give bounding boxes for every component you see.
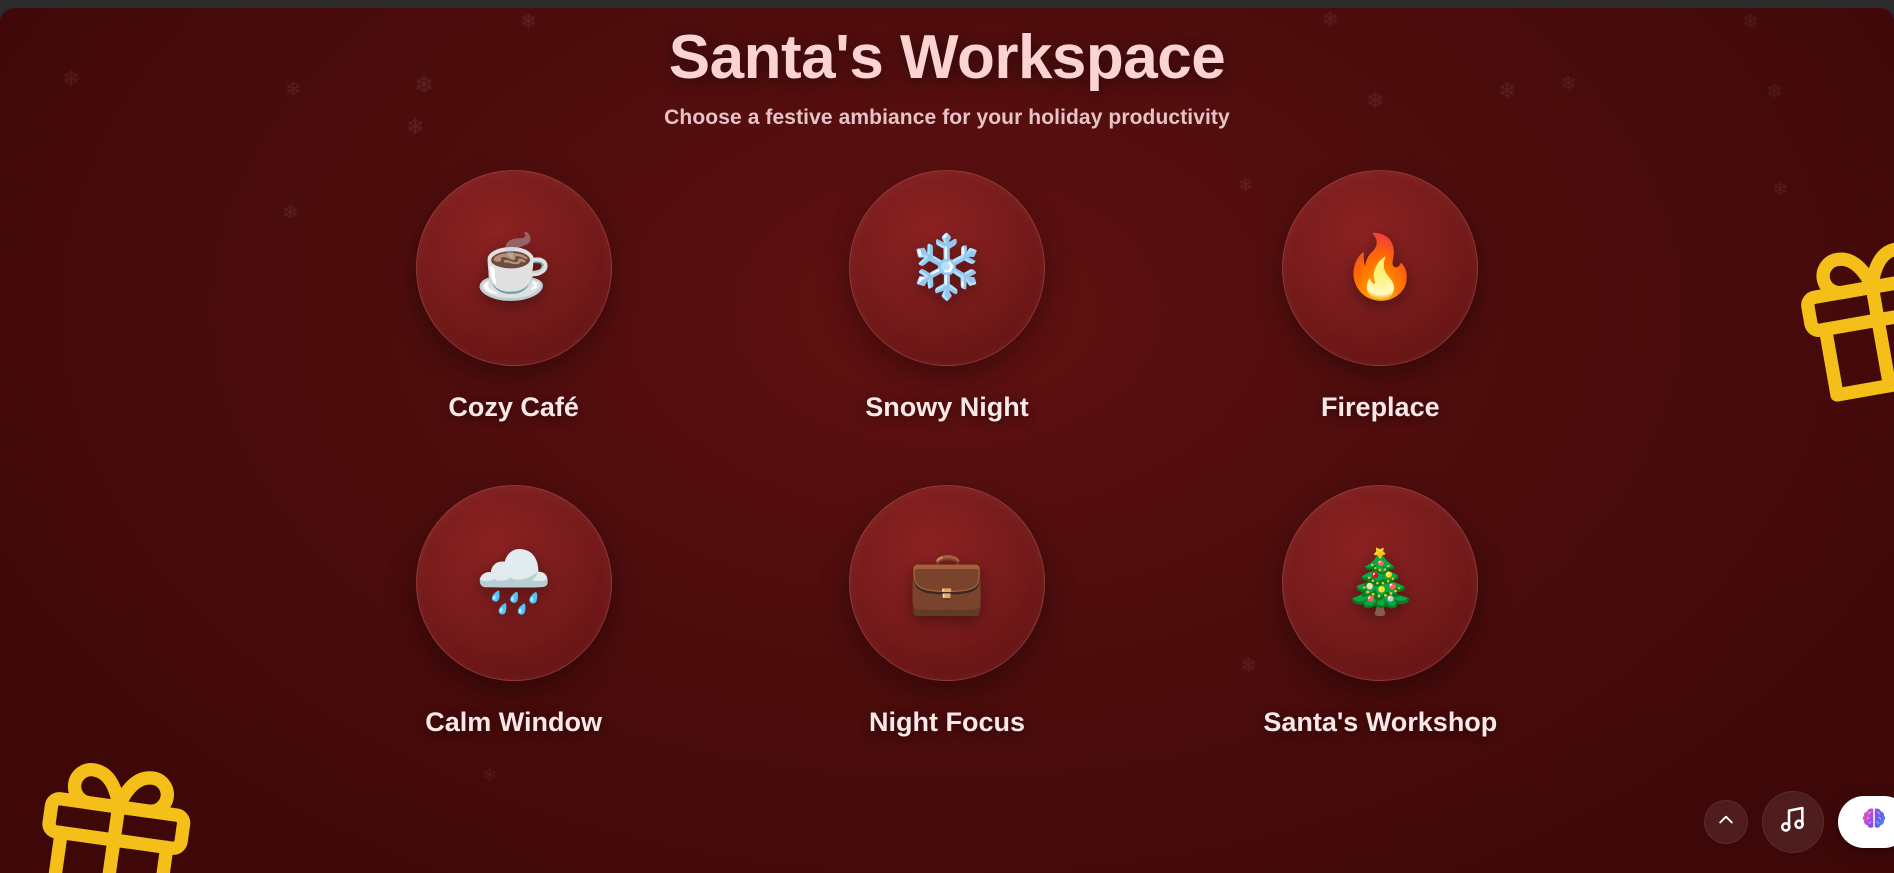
ambiance-disc-cozy-cafe[interactable]: ☕ <box>416 170 612 366</box>
page-header: Santa's Workspace Choose a festive ambia… <box>0 8 1894 130</box>
ambiance-disc-snowy-night[interactable]: ❄️ <box>849 170 1045 366</box>
page-subtitle: Choose a festive ambiance for your holid… <box>0 106 1894 130</box>
scroll-to-top-button[interactable] <box>1704 800 1748 844</box>
rain-cloud-icon: 🌧️ <box>475 552 552 614</box>
ambiance-card-santas-workshop[interactable]: 🎄Santa's Workshop <box>1230 485 1530 738</box>
gift-box-icon <box>24 750 205 873</box>
christmas-tree-icon: 🎄 <box>1342 552 1419 614</box>
ambiance-label-snowy-night: Snowy Night <box>865 392 1029 423</box>
snowflake-decoration: ❄ <box>482 766 497 784</box>
chevron-up-icon <box>1716 810 1736 835</box>
music-note-icon <box>1777 804 1809 841</box>
santas-workspace-page: ❄❄❄❄❄❄❄❄❄❄❄❄❄❄❄❄ Santa's Workspace Choos… <box>0 8 1894 873</box>
ambiance-card-snowy-night[interactable]: ❄️Snowy Night <box>797 170 1097 423</box>
hot-beverage-icon: ☕ <box>475 237 552 299</box>
fire-icon: 🔥 <box>1342 237 1419 299</box>
ambiance-disc-night-focus[interactable]: 💼 <box>849 485 1045 681</box>
ambiance-label-calm-window: Calm Window <box>425 707 602 738</box>
ambiance-card-calm-window[interactable]: 🌧️Calm Window <box>364 485 664 738</box>
ambiance-card-fireplace[interactable]: 🔥Fireplace <box>1230 170 1530 423</box>
ambiance-card-night-focus[interactable]: 💼Night Focus <box>797 485 1097 738</box>
ambiance-label-fireplace: Fireplace <box>1321 392 1440 423</box>
ambiance-label-santas-workshop: Santa's Workshop <box>1263 707 1497 738</box>
gift-box-icon <box>1785 227 1894 412</box>
ambiance-disc-santas-workshop[interactable]: 🎄 <box>1282 485 1478 681</box>
music-toggle-button[interactable] <box>1762 791 1824 853</box>
briefcase-icon: 💼 <box>908 552 985 614</box>
floating-controls <box>1704 791 1882 853</box>
ambiance-disc-calm-window[interactable]: 🌧️ <box>416 485 612 681</box>
ambiance-grid: ☕Cozy Café❄️Snowy Night🔥Fireplace🌧️Calm … <box>297 170 1597 738</box>
app-window-frame: ❄❄❄❄❄❄❄❄❄❄❄❄❄❄❄❄ Santa's Workspace Choos… <box>0 0 1894 873</box>
snowflake-icon: ❄️ <box>908 237 985 299</box>
ambiance-label-cozy-cafe: Cozy Café <box>448 392 579 423</box>
ambiance-card-cozy-cafe[interactable]: ☕Cozy Café <box>364 170 664 423</box>
ambiance-disc-fireplace[interactable]: 🔥 <box>1282 170 1478 366</box>
brain-icon <box>1859 805 1889 840</box>
assistant-button[interactable] <box>1838 796 1894 848</box>
page-title: Santa's Workspace <box>0 24 1894 92</box>
snowflake-decoration: ❄ <box>1772 180 1789 200</box>
ambiance-label-night-focus: Night Focus <box>869 707 1025 738</box>
